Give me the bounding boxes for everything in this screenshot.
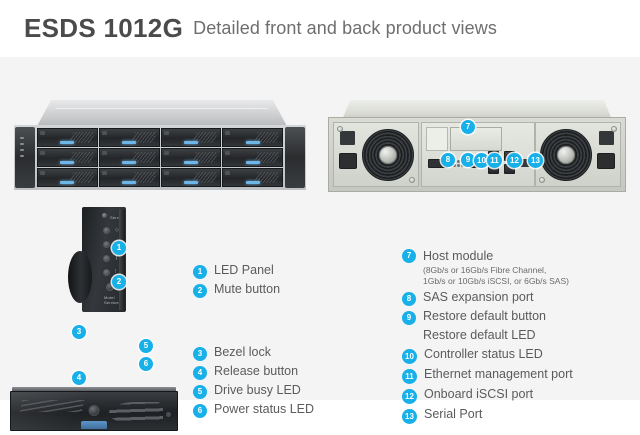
front-drive-bay-grid (37, 128, 283, 187)
tray-vent-right-icon (109, 402, 163, 424)
legend-badge-6: 6 (193, 404, 207, 418)
legend-item-3: 3 Bezel lock (193, 345, 378, 361)
callout-badge-1: 1 (112, 241, 126, 255)
page-title-subtitle: Detailed front and back product views (193, 18, 497, 39)
callout-badge-9: 9 (461, 153, 475, 167)
legend-left-bottom: 3 Bezel lock 4 Release button 5 Drive bu… (193, 345, 378, 421)
power-inlet-icon (339, 153, 357, 169)
legend-label-5: Drive busy LED (214, 383, 301, 398)
legend-badge-13: 13 (402, 409, 417, 424)
drive-tray (99, 148, 160, 167)
thermal-glyph-icon: ╏ (115, 256, 118, 261)
callout-badge-2: 2 (112, 275, 126, 289)
callout-badge-6: 6 (139, 357, 153, 371)
legend-item-2: 2 Mute button (193, 282, 378, 298)
legend-item-11: 11 Ethernet management port (402, 367, 640, 384)
legend-item-9: 9 Restore default button (402, 309, 640, 325)
legend-label-3: Bezel lock (214, 345, 271, 360)
drive-tray (37, 148, 98, 167)
legend-label-4: Release button (214, 364, 298, 379)
legend-label-10: Controller status LED (424, 347, 543, 362)
legend-badge-11: 11 (402, 369, 417, 384)
drive-tray (99, 168, 160, 187)
tray-status-led-icon (166, 412, 171, 417)
legend-badge-1: 1 (193, 265, 207, 279)
legend-badge-7: 7 (402, 249, 416, 263)
callout-badge-3: 3 (72, 325, 86, 339)
front-top-cover (36, 100, 288, 128)
drive-tray (161, 148, 222, 167)
legend-left-top: 1 LED Panel 2 Mute button (193, 263, 378, 301)
power-inlet-icon (597, 153, 615, 169)
legend-right: 7 Host module (8Gb/s or 16Gb/s Fibre Cha… (402, 247, 640, 427)
front-chassis-body (14, 125, 306, 190)
drive-tray (161, 128, 222, 147)
panel-screw-icon (102, 213, 107, 218)
legend-sublabel-7-line2: 1Gb/s or 10Gb/s iSCSI, or 6Gb/s SAS) (423, 276, 569, 287)
legend-item-4: 4 Release button (193, 364, 378, 380)
drive-tray-detail (10, 387, 178, 435)
tray-vent-left-icon (20, 400, 84, 412)
power-supply-left (333, 122, 419, 187)
legend-label-2: Mute button (214, 282, 280, 297)
legend-badge-2: 2 (193, 284, 207, 298)
front-right-ear (285, 127, 305, 188)
page-title-model: ESDS 1012G (24, 13, 183, 44)
led-bulb-icon (103, 227, 110, 234)
callout-badge-4: 4 (72, 371, 86, 385)
drive-tray (37, 168, 98, 187)
page-header: ESDS 1012G Detailed front and back produ… (0, 0, 640, 57)
tray-frame (10, 391, 178, 431)
drive-tray (222, 168, 283, 187)
callout-badge-8: 8 (441, 153, 455, 167)
legend-label-6: Power status LED (214, 402, 314, 417)
legend-label-1: LED Panel (214, 263, 274, 278)
drive-tray (99, 128, 160, 147)
led-bulb-icon (103, 255, 110, 262)
front-left-ear (15, 127, 35, 188)
legend-item-6: 6 Power status LED (193, 402, 378, 418)
legend-label-8: SAS expansion port (423, 290, 534, 305)
drive-tray (161, 168, 222, 187)
bezel-knob (68, 251, 92, 303)
led-panel-edge (119, 209, 125, 310)
legend-item-7: 7 Host module (8Gb/s or 16Gb/s Fibre Cha… (402, 247, 640, 287)
drive-tray (222, 148, 283, 167)
legend-label-7: Host module (423, 249, 493, 263)
rear-product-view (328, 100, 626, 192)
legend-badge-8: 8 (402, 292, 416, 306)
host-module-slot (450, 127, 502, 151)
legend-badge-10: 10 (402, 349, 417, 364)
callout-badge-11: 11 (487, 153, 502, 168)
host-module-slot-blank (426, 127, 448, 151)
front-product-view (14, 100, 306, 190)
content-panel: Service ◇ ✦ ╏ ! Mute/ Service (0, 57, 640, 400)
legend-label-11: Ethernet management port (424, 367, 573, 382)
cooling-fan-icon (540, 129, 592, 181)
legend-item-7-body: Host module (8Gb/s or 16Gb/s Fibre Chann… (423, 247, 569, 287)
callout-badge-13: 13 (528, 153, 543, 168)
legend-sublabel-7-line1: (8Gb/s or 16Gb/s Fibre Channel, (423, 265, 569, 276)
release-button-icon[interactable] (81, 421, 107, 429)
legend-badge-4: 4 (193, 366, 207, 380)
power-switch-icon (599, 131, 614, 145)
led-panel-detail: Service ◇ ✦ ╏ ! Mute/ Service (68, 207, 140, 312)
legend-label-9: Restore default button (423, 309, 546, 324)
legend-badge-9: 9 (402, 311, 416, 325)
legend-label-13: Serial Port (424, 407, 482, 422)
led-indicator-row: ◇ (103, 227, 129, 234)
legend-item-12: 12 Onboard iSCSI port (402, 387, 640, 404)
drive-tray (37, 128, 98, 147)
callout-badge-12: 12 (507, 153, 522, 168)
callout-badge-7: 7 (461, 120, 475, 134)
legend-badge-12: 12 (402, 389, 417, 404)
drive-tray (222, 128, 283, 147)
cooling-fan-icon (362, 129, 414, 181)
legend-item-10: 10 Controller status LED (402, 347, 640, 364)
page-root: ESDS 1012G Detailed front and back produ… (0, 0, 640, 400)
legend-badge-3: 3 (193, 347, 207, 361)
legend-item-restore-default-led: Restore default LED (402, 328, 640, 344)
legend-label-restore-default-led: Restore default LED (423, 328, 536, 343)
legend-item-13: 13 Serial Port (402, 407, 640, 424)
legend-item-1: 1 LED Panel (193, 263, 378, 279)
power-supply-right (535, 122, 621, 187)
legend-badge-spacer (402, 330, 416, 344)
legend-item-5: 5 Drive busy LED (193, 383, 378, 399)
legend-item-8: 8 SAS expansion port (402, 290, 640, 306)
power-switch-icon (340, 131, 355, 145)
callout-badge-5: 5 (139, 339, 153, 353)
led-indicator-row: ╏ (103, 255, 129, 262)
legend-badge-5: 5 (193, 385, 207, 399)
bezel-lock-icon (89, 405, 100, 416)
led-bulb-icon (103, 241, 110, 248)
led-bulb-icon (103, 269, 110, 276)
